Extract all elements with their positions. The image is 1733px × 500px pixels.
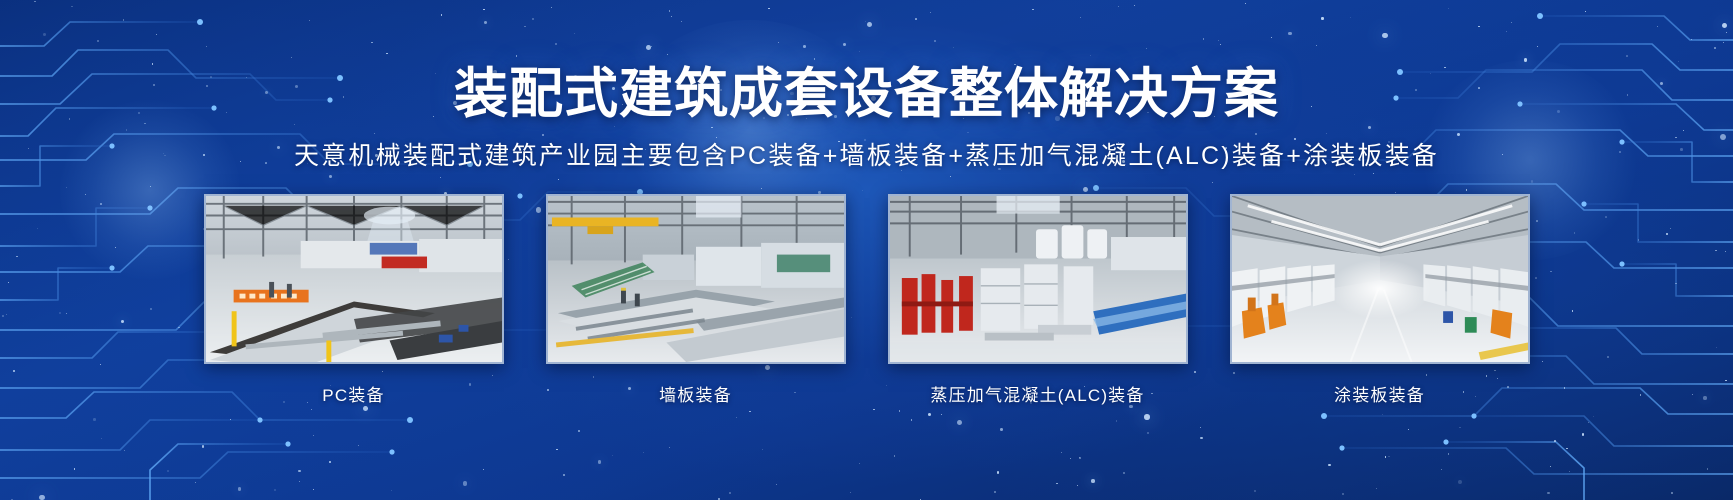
equipment-card-wall-panel[interactable]: 墙板装备 bbox=[546, 194, 846, 406]
hero-banner: 装配式建筑成套设备整体解决方案 天意机械装配式建筑产业园主要包含PC装备+墙板装… bbox=[0, 0, 1733, 500]
page-subtitle: 天意机械装配式建筑产业园主要包含PC装备+墙板装备+蒸压加气混凝土(ALC)装备… bbox=[294, 136, 1439, 172]
banner-content: 装配式建筑成套设备整体解决方案 天意机械装配式建筑产业园主要包含PC装备+墙板装… bbox=[0, 0, 1733, 500]
card-caption: 墙板装备 bbox=[659, 381, 732, 406]
equipment-card-list: PC装备 bbox=[204, 194, 1530, 406]
card-caption: PC装备 bbox=[322, 381, 384, 406]
coating-panel-equipment-photo[interactable] bbox=[1230, 194, 1530, 364]
wall-panel-equipment-photo[interactable] bbox=[546, 194, 846, 364]
page-title: 装配式建筑成套设备整体解决方案 bbox=[454, 66, 1279, 122]
card-caption: 涂装板装备 bbox=[1334, 381, 1425, 406]
pc-equipment-photo[interactable] bbox=[204, 194, 504, 364]
alc-equipment-photo[interactable] bbox=[888, 194, 1188, 364]
card-caption: 蒸压加气混凝土(ALC)装备 bbox=[930, 381, 1144, 406]
equipment-card-pc[interactable]: PC装备 bbox=[204, 194, 504, 406]
equipment-card-alc[interactable]: 蒸压加气混凝土(ALC)装备 bbox=[888, 194, 1188, 406]
equipment-card-coating-panel[interactable]: 涂装板装备 bbox=[1230, 194, 1530, 406]
